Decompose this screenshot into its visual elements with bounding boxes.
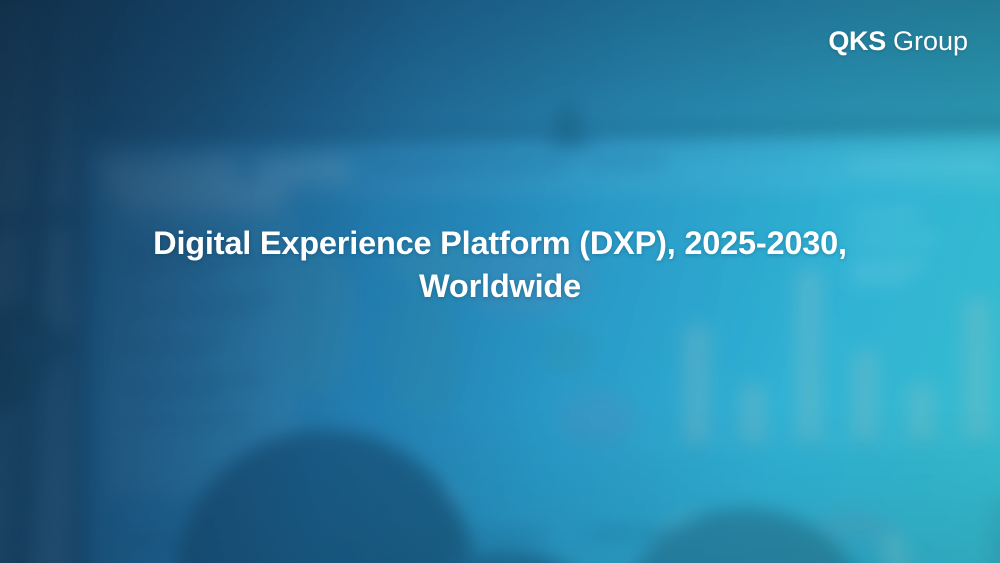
title-block: Digital Experience Platform (DXP), 2025-… xyxy=(0,222,1000,308)
logo-mark: QKS xyxy=(828,28,886,55)
report-banner: QKS Group Digital Experience Platform (D… xyxy=(0,0,1000,563)
page-title: Digital Experience Platform (DXP), 2025-… xyxy=(80,222,920,308)
logo-word: Group xyxy=(893,28,968,55)
qks-group-logo: QKS Group xyxy=(828,28,968,55)
